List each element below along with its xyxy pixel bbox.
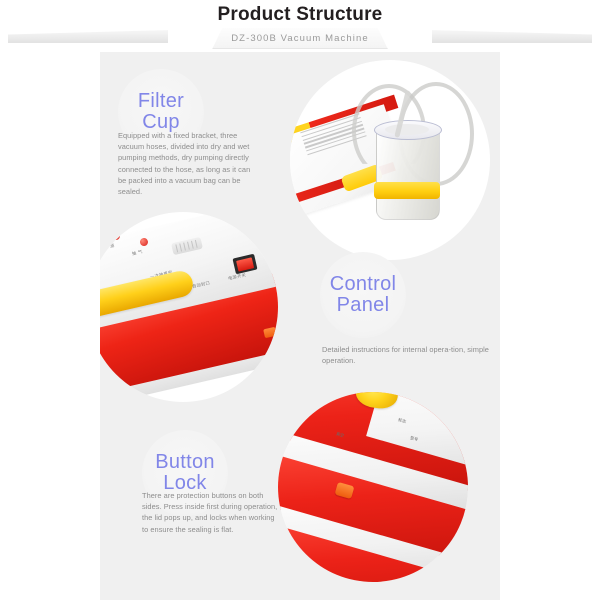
heading-control-panel: Control Panel [330, 274, 397, 316]
content-panel: Filter Cup Equipped with a fixed bracket… [100, 52, 500, 600]
subtitle-ribbon: DZ-300B Vacuum Machine [0, 28, 600, 48]
body-filter-cup: Equipped with a fixed bracket, three vac… [118, 130, 258, 197]
control-panel-scene: 电 源 抽 气 电源开关 一次抽真空 自动封口 [100, 212, 278, 402]
badge-control-panel: Control Panel [320, 252, 406, 338]
page-title: Product Structure [0, 4, 600, 26]
control-panel-photo: 电 源 抽 气 电源开关 一次抽真空 自动封口 [100, 212, 278, 402]
infographic-page: Product Structure DZ-300B Vacuum Machine… [0, 0, 600, 600]
ribbon-tail-right [432, 30, 592, 43]
heading-button-lock: Button Lock [155, 452, 215, 494]
ribbon-tail-left [8, 30, 168, 43]
button-lock-scene: 标志 型号 真空 [278, 392, 468, 582]
body-button-lock: There are protection buttons on both sid… [142, 490, 282, 535]
heading-filter-cup: Filter Cup [138, 91, 184, 133]
page-subtitle: DZ-300B Vacuum Machine [231, 33, 369, 44]
filter-cup-opening [385, 124, 429, 135]
filter-cup-scene [290, 60, 490, 260]
button-lock-photo: 标志 型号 真空 [278, 392, 468, 582]
header: Product Structure DZ-300B Vacuum Machine [0, 0, 600, 52]
filter-cup-yellow-band [374, 182, 440, 199]
filter-cup-photo [290, 60, 490, 260]
filter-cup-body [376, 126, 440, 220]
body-control-panel: Detailed instructions for internal opera… [322, 344, 490, 366]
ribbon-plate: DZ-300B Vacuum Machine [212, 28, 388, 49]
